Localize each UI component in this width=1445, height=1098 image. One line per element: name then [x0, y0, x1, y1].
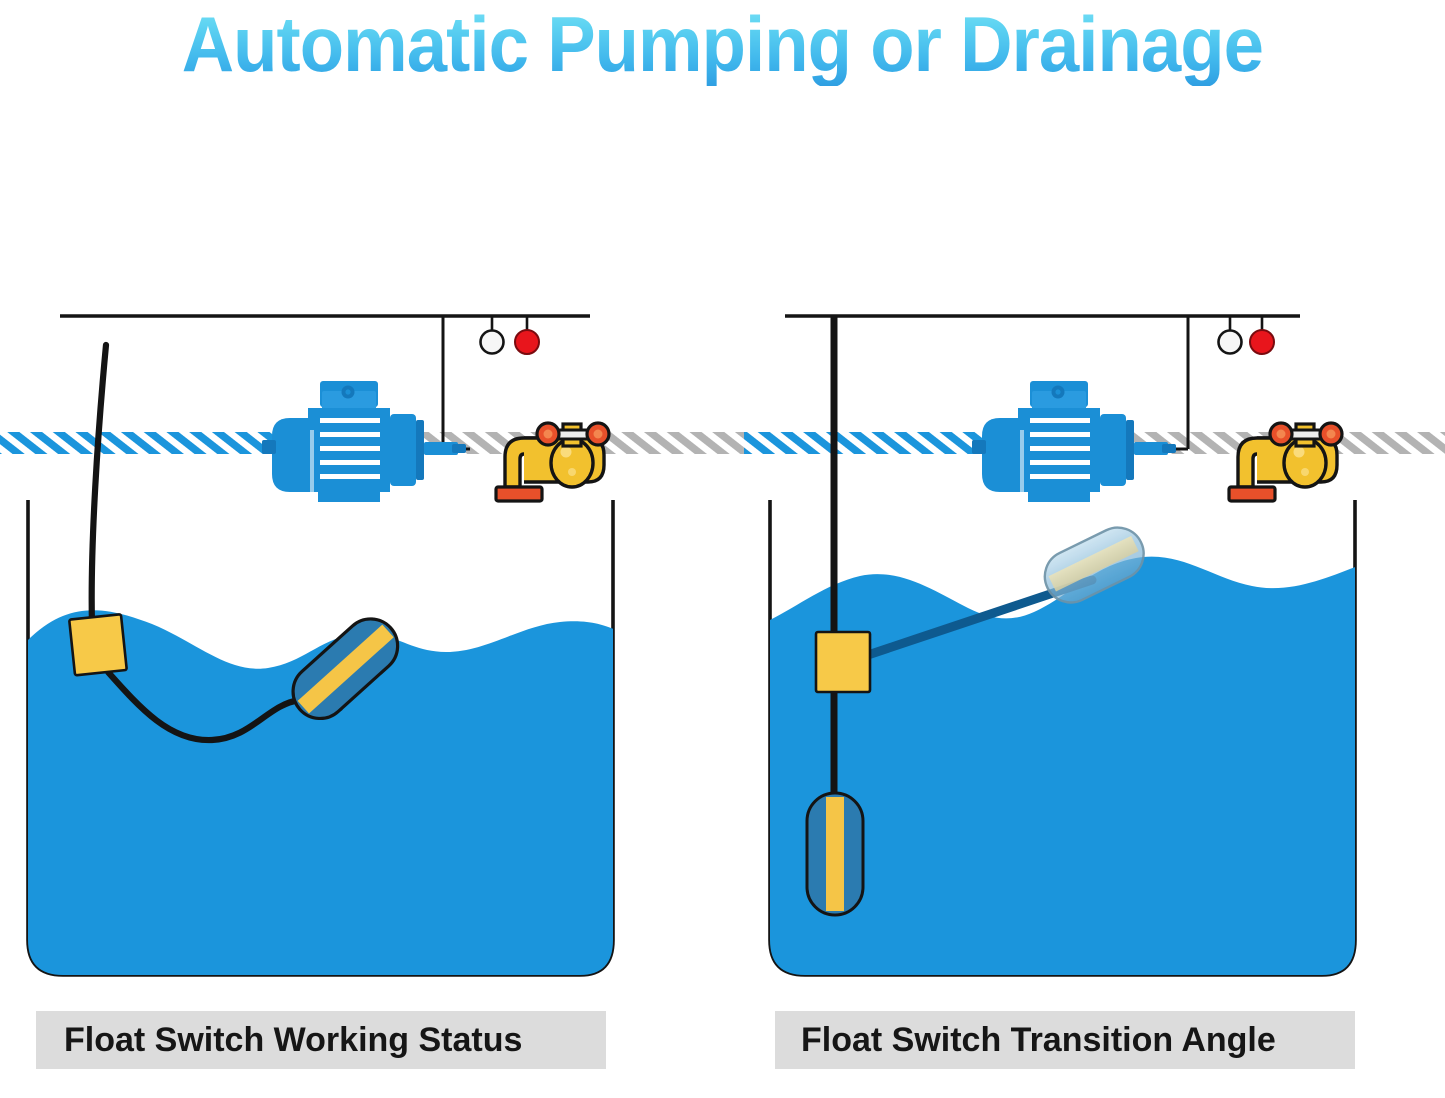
panel-transition-angle: [740, 0, 1445, 1098]
pump-motor: [972, 381, 1176, 502]
indicator-lamp-on[interactable]: [515, 330, 539, 354]
brass-faucet-valve: [1229, 423, 1342, 501]
caption-working-status-text: Float Switch Working Status: [36, 1021, 522, 1060]
cable-counterweight: [69, 614, 127, 675]
panel-working-status: [0, 0, 722, 1098]
indicator-lamp-off[interactable]: [1219, 331, 1242, 354]
cable-counterweight: [816, 632, 870, 692]
caption-transition-angle-text: Float Switch Transition Angle: [775, 1021, 1276, 1060]
diagram-page: Automatic Pumping or Drainage: [0, 0, 1445, 1098]
indicator-lamp-on[interactable]: [1250, 330, 1274, 354]
caption-working-status: Float Switch Working Status: [36, 1011, 606, 1069]
suspension-cable-upper: [92, 345, 106, 625]
brass-faucet-valve: [496, 423, 609, 501]
pump-motor: [262, 381, 466, 502]
water-body: [766, 557, 1358, 990]
float-switch-body-low: [807, 793, 863, 915]
indicator-lamp-off[interactable]: [481, 331, 504, 354]
caption-transition-angle: Float Switch Transition Angle: [775, 1011, 1355, 1069]
